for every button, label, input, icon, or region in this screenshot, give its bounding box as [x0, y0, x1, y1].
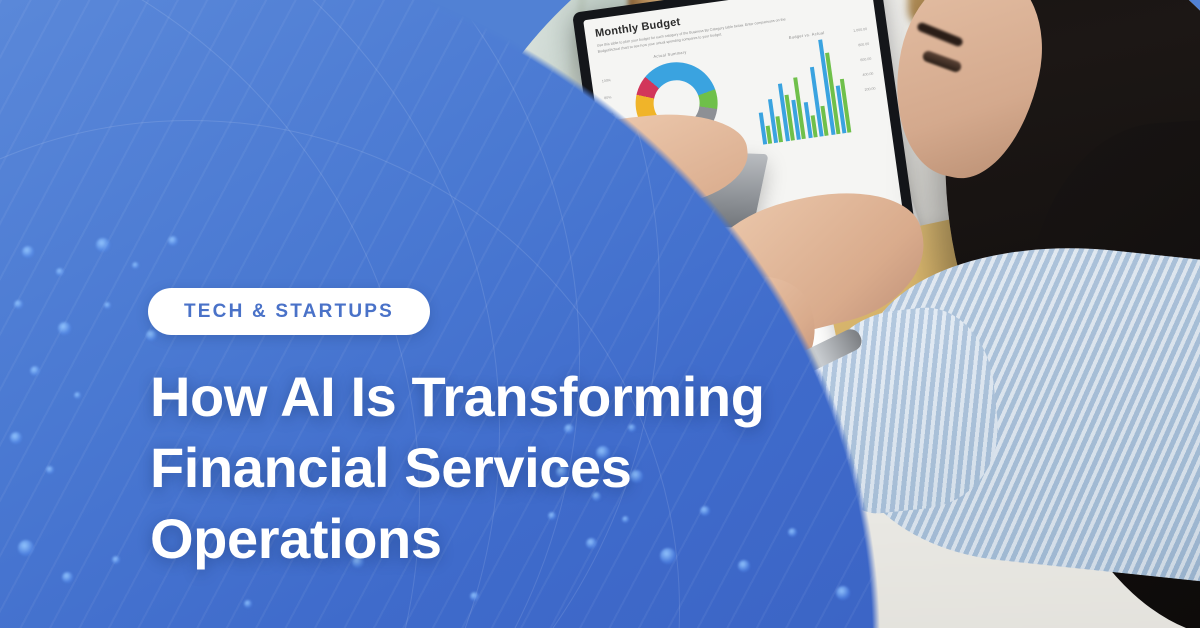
category-badge[interactable]: TECH & STARTUPS	[148, 288, 430, 335]
title-line-1: How AI Is Transforming	[150, 361, 810, 432]
title-line-3: Operations	[150, 503, 810, 574]
page-title: How AI Is Transforming Financial Service…	[150, 361, 810, 574]
title-line-2: Financial Services	[150, 432, 810, 503]
banner-content: TECH & STARTUPS How AI Is Transforming F…	[0, 0, 1200, 628]
blog-banner: Monthly Budget Use this table to plan yo…	[0, 0, 1200, 628]
